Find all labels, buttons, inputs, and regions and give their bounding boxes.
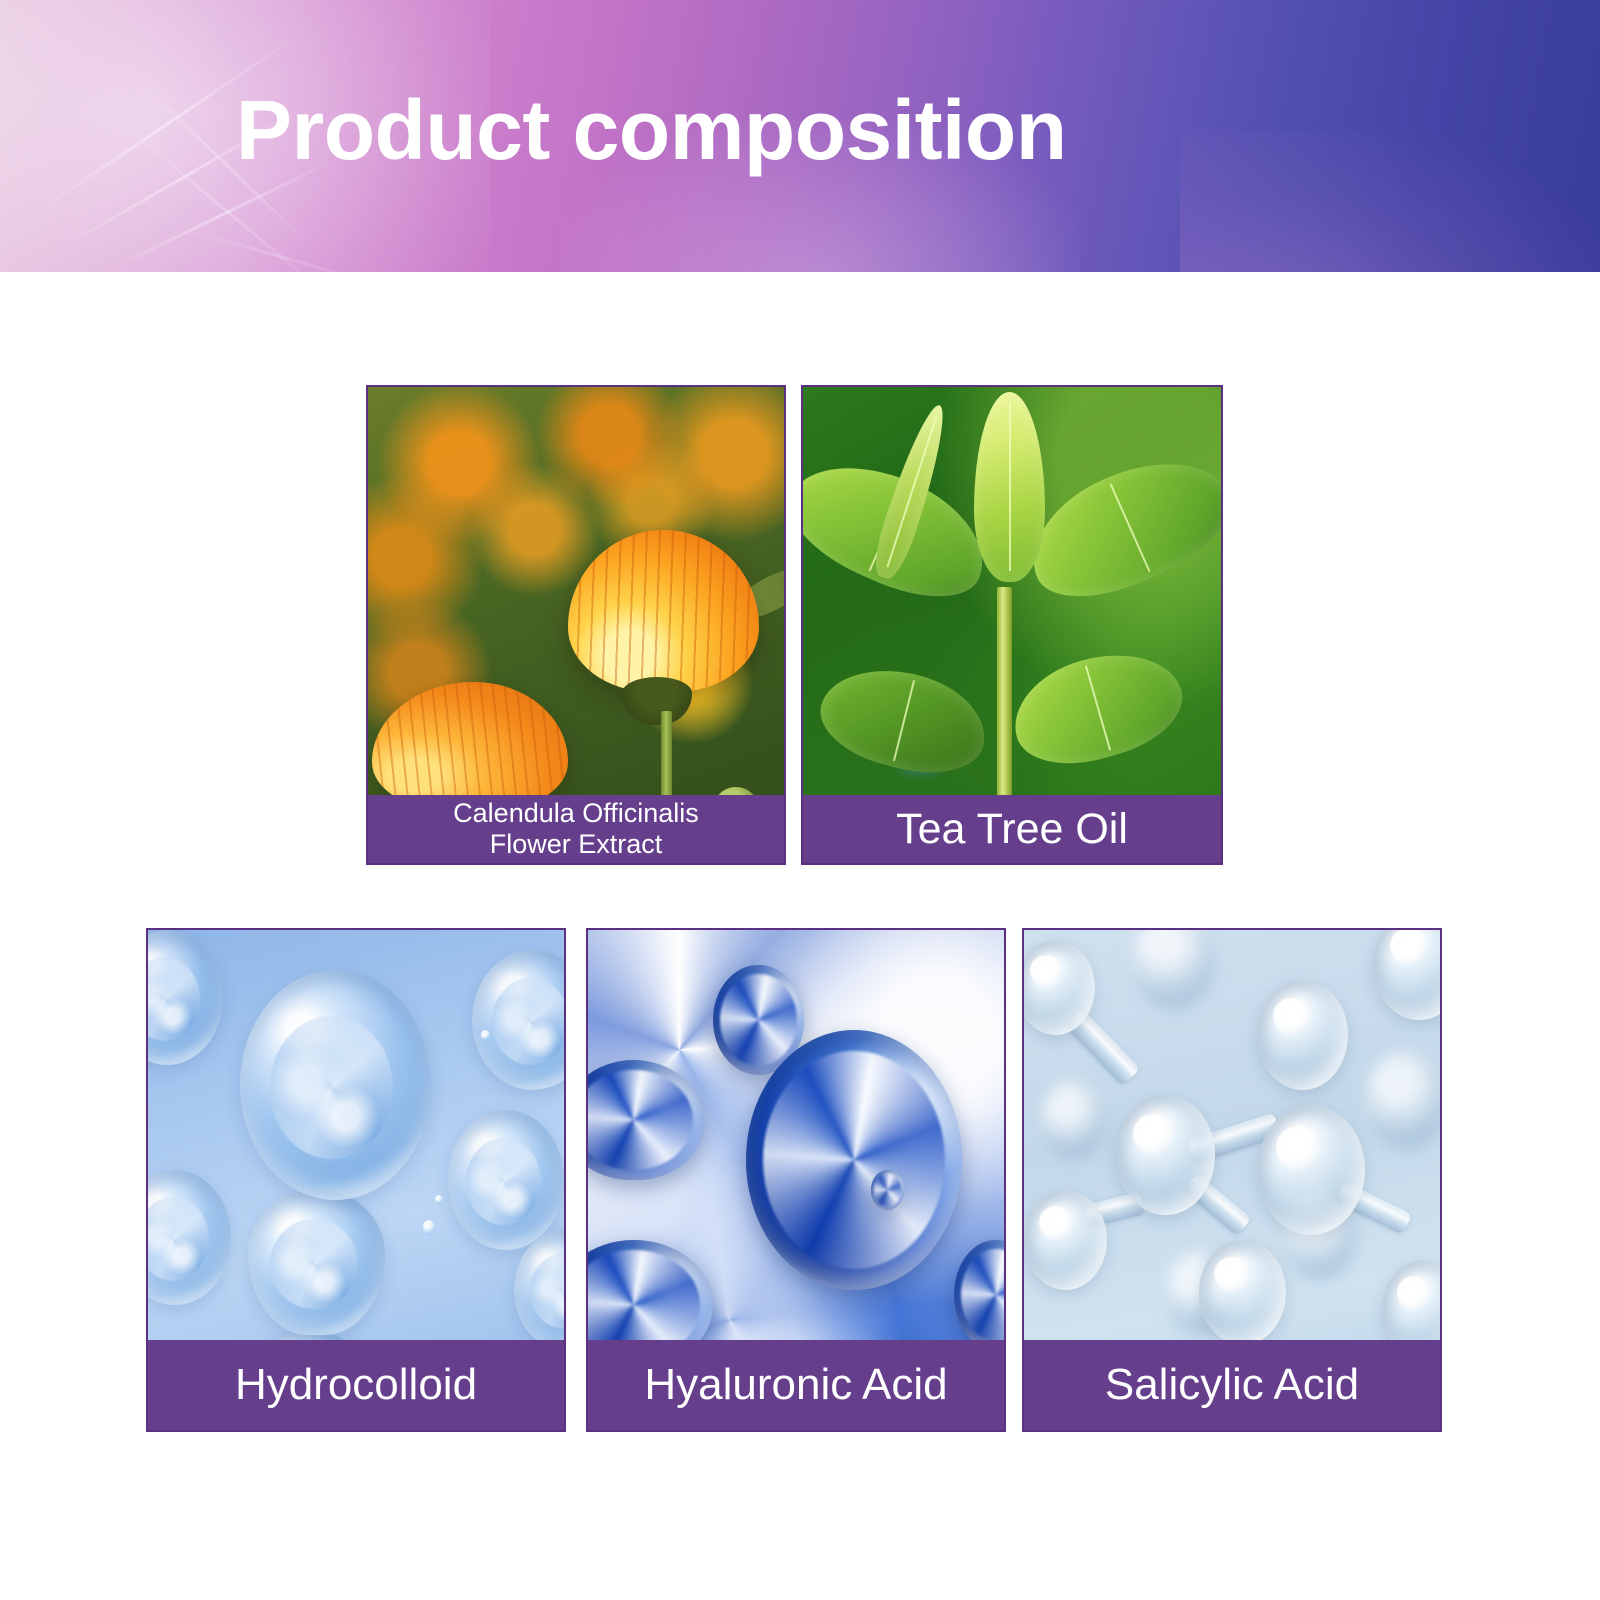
glass-atom <box>1199 1240 1286 1345</box>
caption-line-2: Flower Extract <box>453 829 699 860</box>
water-bubble-small <box>435 1195 442 1204</box>
water-bubble <box>448 1110 564 1250</box>
blue-sphere-small <box>871 1170 904 1210</box>
glass-atom <box>1257 980 1349 1090</box>
water-bubble-primary <box>240 970 431 1200</box>
glass-atom <box>1024 1190 1107 1290</box>
calendula-bloom-secondary <box>372 682 568 811</box>
tea-leaf-lower-right <box>1002 637 1194 780</box>
ingredient-caption-calendula: Calendula Officinalis Flower Extract <box>368 795 784 863</box>
tea-tree-leaves-photo <box>803 387 1221 863</box>
header-glow-right <box>1180 130 1600 272</box>
calendula-bloom-primary <box>568 530 759 692</box>
ingredient-card-salicylic-acid[interactable]: Salicylic Acid <box>1022 928 1442 1432</box>
water-bubble <box>148 930 223 1065</box>
header-banner: Product composition <box>0 0 1600 272</box>
water-bubble <box>248 1190 385 1335</box>
ingredient-card-tea-tree-oil[interactable]: Tea Tree Oil <box>801 385 1223 865</box>
ingredient-card-calendula[interactable]: Calendula Officinalis Flower Extract <box>366 385 786 865</box>
glass-atom <box>1116 1095 1216 1215</box>
ingredient-card-hydrocolloid[interactable]: Hydrocolloid <box>146 928 566 1432</box>
ingredient-caption-salicylic-acid: Salicylic Acid <box>1024 1340 1440 1430</box>
blurred-atom <box>1132 930 1215 1010</box>
glass-atom <box>1373 930 1440 1020</box>
glass-atom <box>1257 1105 1365 1235</box>
blurred-atom <box>1365 1050 1440 1150</box>
ingredient-card-hyaluronic-acid[interactable]: Hyaluronic Acid <box>586 928 1006 1432</box>
tea-leaf-bud <box>974 392 1045 582</box>
calendula-calyx-primary <box>622 677 693 725</box>
blue-sphere-primary <box>746 1030 962 1290</box>
blurred-atom <box>1041 1080 1108 1160</box>
water-bubble <box>148 1170 231 1305</box>
tea-leaf-lower-left <box>811 654 996 787</box>
ingredient-caption-hyaluronic-acid: Hyaluronic Acid <box>588 1340 1004 1430</box>
caption-line-1: Calendula Officinalis <box>453 798 699 829</box>
ingredient-caption-hydrocolloid: Hydrocolloid <box>148 1340 564 1430</box>
ingredient-caption-tea-tree-oil: Tea Tree Oil <box>803 795 1221 863</box>
water-bubble-small <box>423 1220 435 1235</box>
water-bubble-small <box>481 1030 490 1041</box>
calendula-flowers-photo <box>368 387 784 863</box>
water-bubble <box>514 1230 564 1350</box>
water-bubble <box>472 950 564 1090</box>
page-title: Product composition <box>236 88 1067 172</box>
